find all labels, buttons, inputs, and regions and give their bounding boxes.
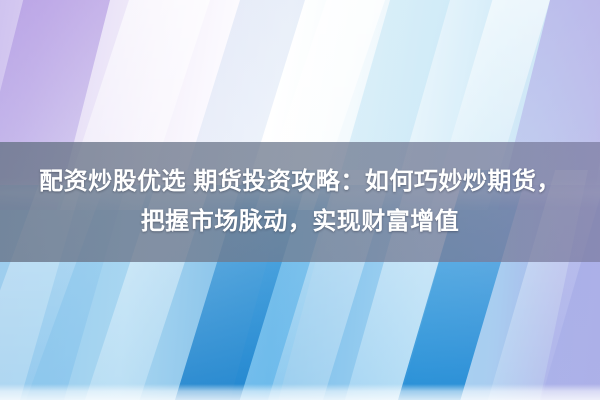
promo-banner: 配资炒股优选 期货投资攻略：如何巧妙炒期货， 把握市场脉动，实现财富增值 xyxy=(0,0,600,400)
bottom-fade-strip xyxy=(0,384,600,400)
headline-line-1: 配资炒股优选 期货投资攻略：如何巧妙炒期货， xyxy=(10,162,590,202)
headline-overlay-band: 配资炒股优选 期货投资攻略：如何巧妙炒期货， 把握市场脉动，实现财富增值 xyxy=(0,142,600,262)
headline-line-2: 把握市场脉动，实现财富增值 xyxy=(10,202,590,242)
